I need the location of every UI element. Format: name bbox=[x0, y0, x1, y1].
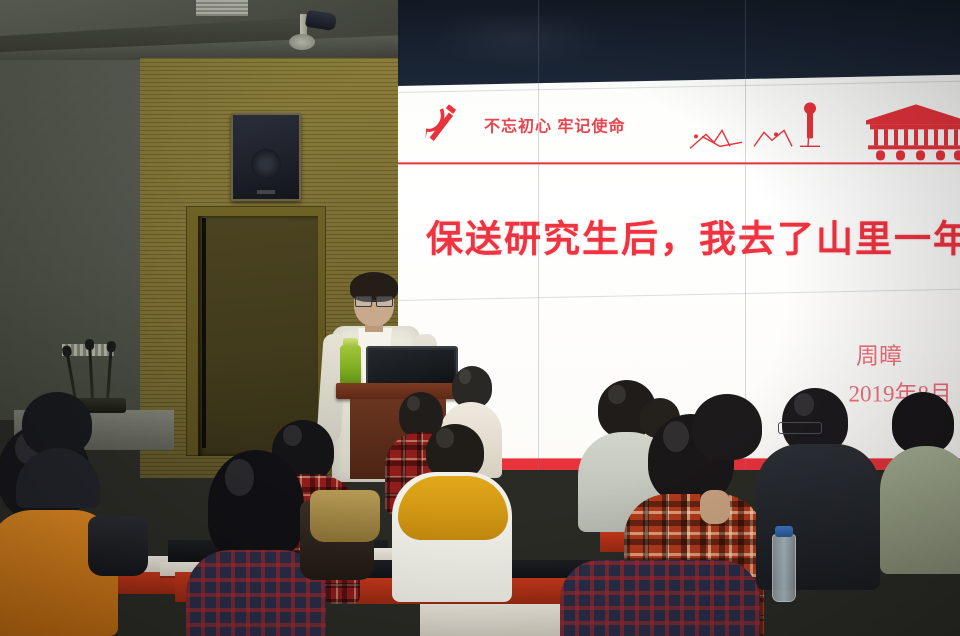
slide-header-rule bbox=[398, 162, 960, 164]
party-emblem-hammer-sickle-icon bbox=[416, 102, 460, 144]
slide-slogan: 不忘初心 牢记使命 bbox=[484, 112, 625, 136]
wall-glare bbox=[428, 8, 608, 68]
head bbox=[692, 394, 762, 460]
photo-scene: 不忘初心 牢记使命 bbox=[0, 0, 960, 636]
plaster-wall bbox=[0, 60, 150, 420]
person-dark-back-left bbox=[16, 392, 100, 502]
head bbox=[22, 392, 92, 456]
person-yellow-hoodie bbox=[392, 424, 512, 599]
slide-title: 保送研究生后，我去了山里一年 bbox=[426, 208, 960, 262]
head bbox=[208, 450, 304, 560]
tote-bag bbox=[310, 490, 380, 542]
head bbox=[892, 392, 954, 454]
videowall-seam bbox=[538, 0, 539, 470]
person-back-right bbox=[692, 394, 762, 464]
camera-plate bbox=[289, 34, 315, 50]
presenter-glasses-icon bbox=[354, 296, 394, 305]
torso bbox=[560, 560, 760, 636]
hood bbox=[398, 476, 508, 540]
green-thermos-bottle bbox=[340, 345, 361, 387]
person-navy-plaid bbox=[560, 560, 760, 636]
glasses-icon bbox=[778, 422, 822, 434]
lecture-hall-door[interactable] bbox=[186, 206, 326, 456]
person-olive-shirt bbox=[880, 392, 960, 572]
bag bbox=[88, 516, 148, 576]
torso bbox=[880, 446, 960, 574]
hand bbox=[700, 490, 730, 524]
speaker-badge bbox=[257, 190, 275, 194]
clear-water-bottle-blue-cap bbox=[772, 534, 796, 602]
tiananmen-skyline-icon bbox=[680, 90, 960, 162]
wall-mounted-speaker-icon bbox=[231, 113, 301, 201]
slide-author: 周暲 bbox=[856, 336, 902, 370]
slide-header: 不忘初心 牢记使命 bbox=[398, 94, 960, 152]
ceiling-air-vent-icon bbox=[196, 0, 248, 16]
torso bbox=[16, 448, 100, 508]
speaker-cone bbox=[251, 149, 281, 179]
door-gap bbox=[202, 218, 206, 448]
